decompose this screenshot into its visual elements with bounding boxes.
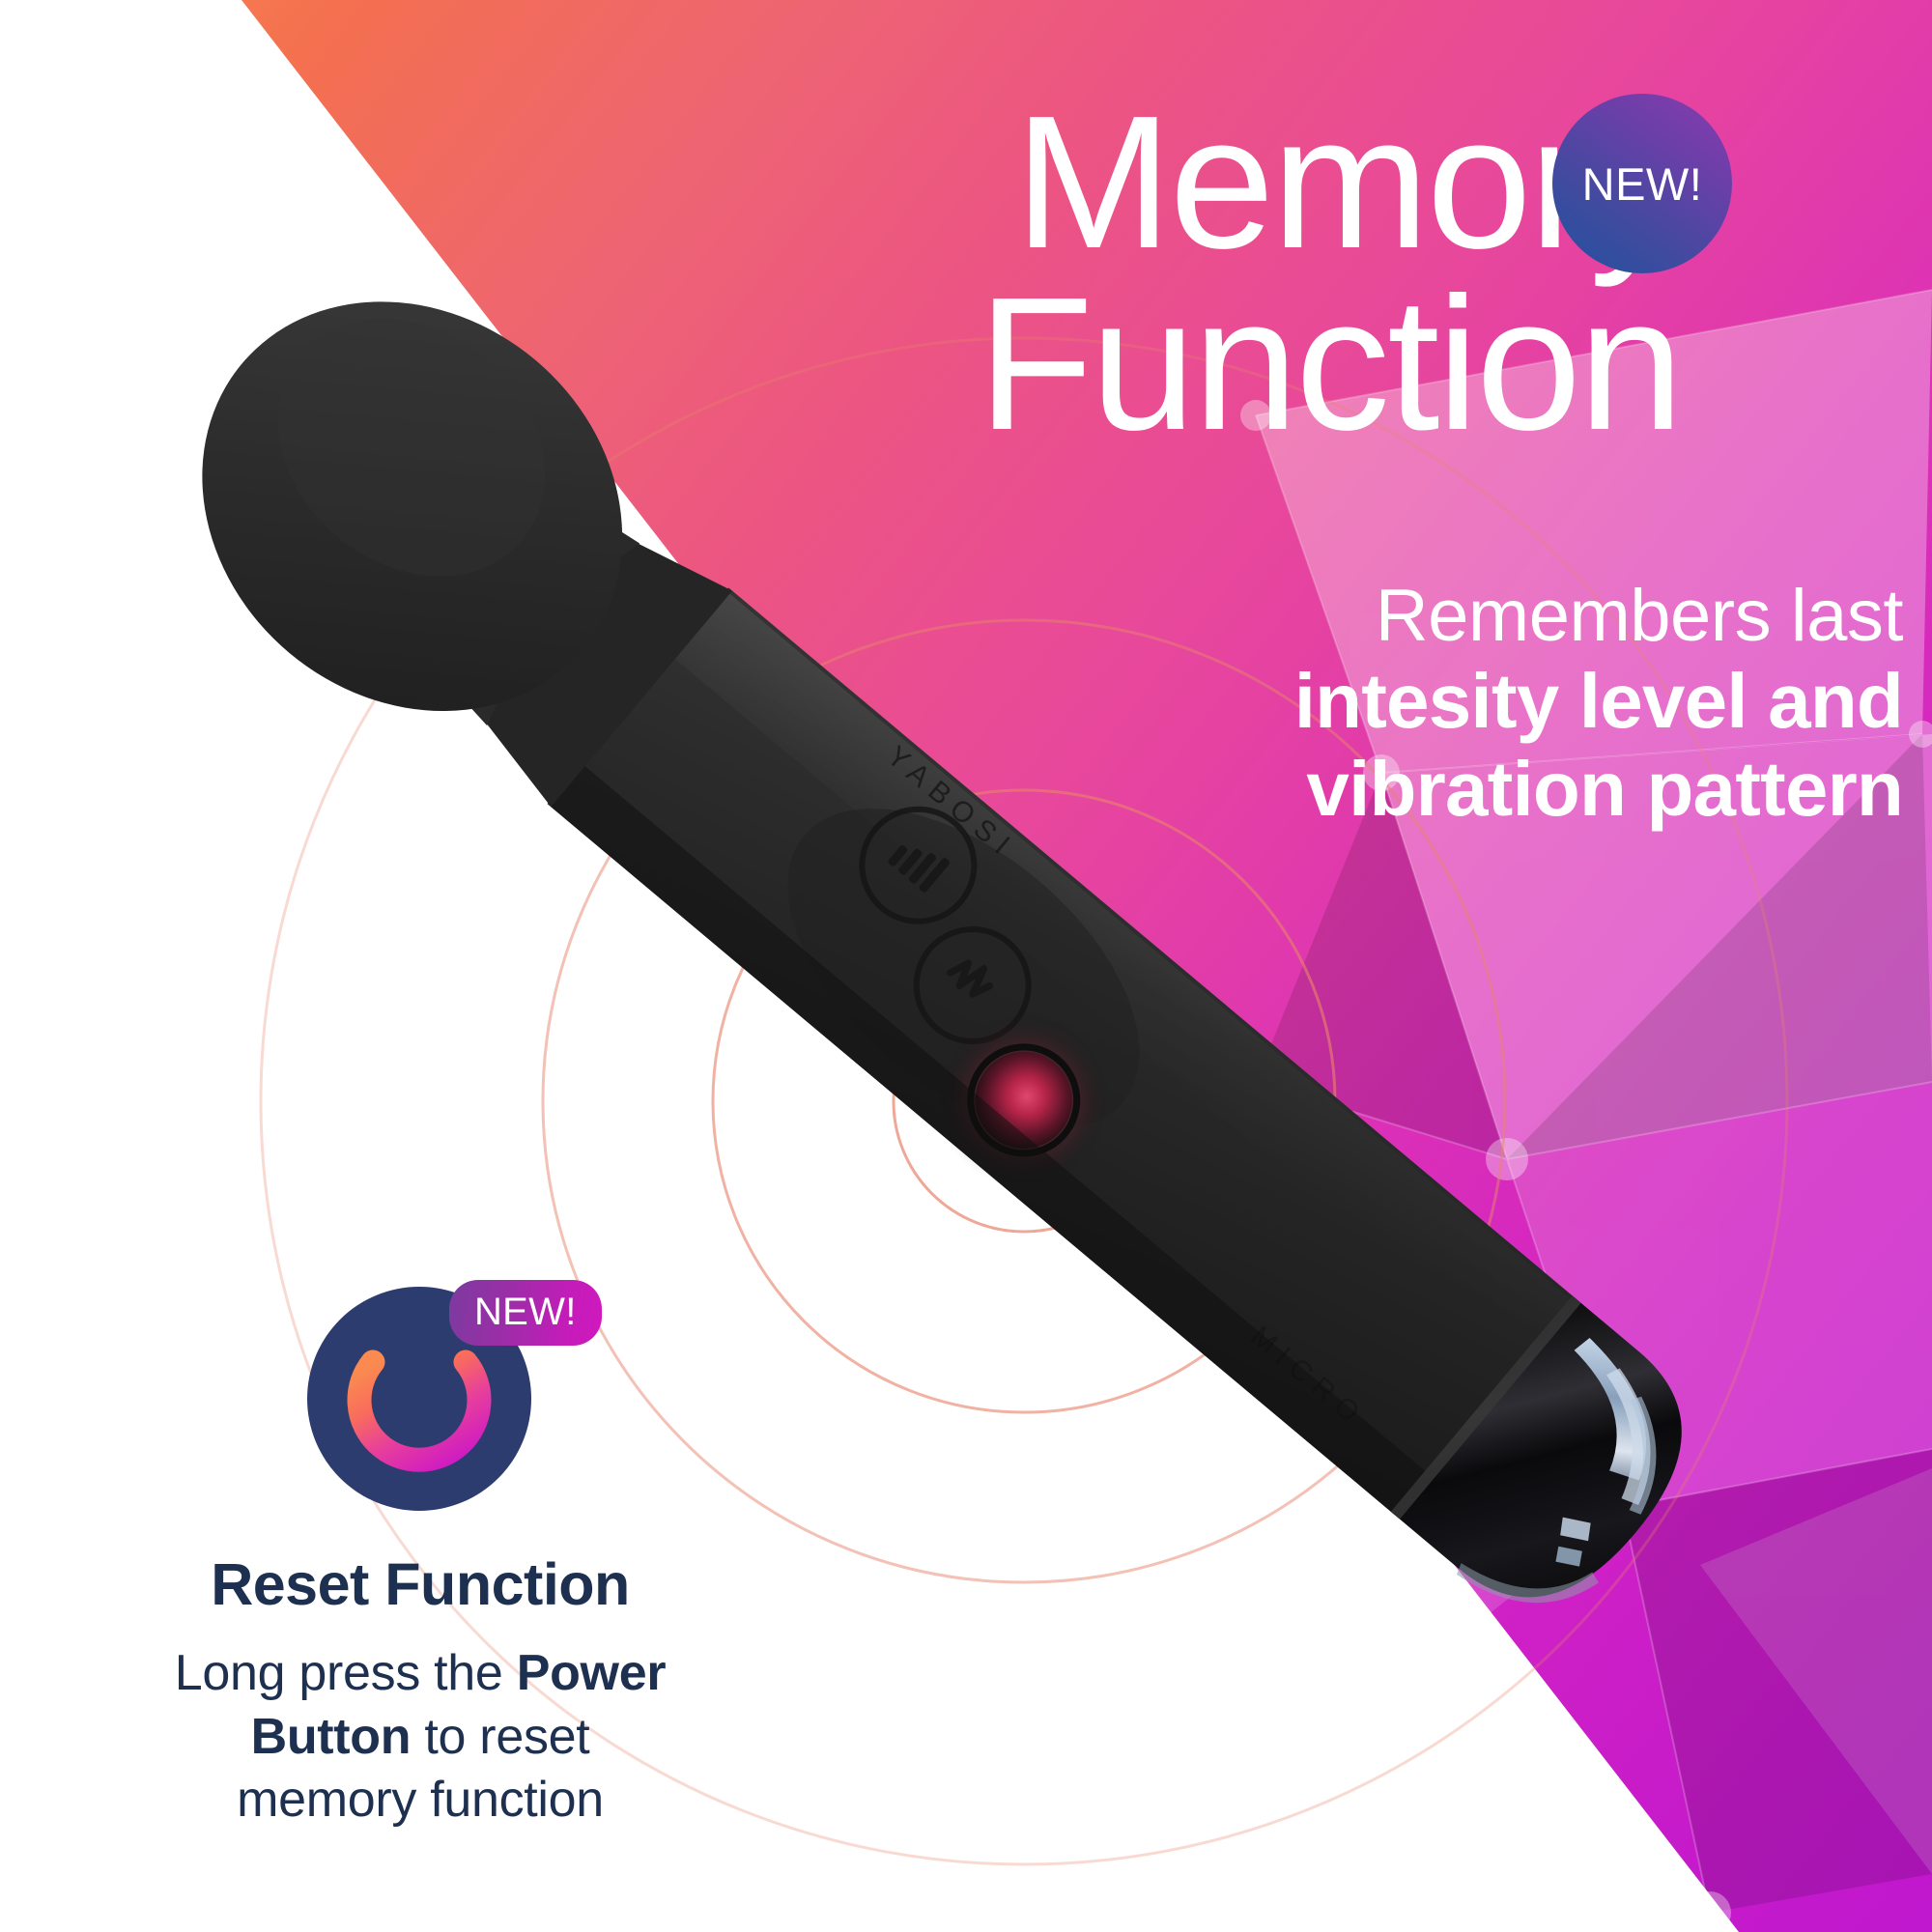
caption-body: Long press the PowerButton to resetmemor… <box>39 1642 802 1833</box>
caption-body-bold-power: Power <box>517 1645 667 1701</box>
subtitle-line-3: vibration pattern <box>734 745 1903 833</box>
caption-body-plain-3: memory function <box>237 1772 604 1828</box>
page-title: Memory Function <box>541 92 1681 455</box>
caption-title: Reset Function <box>39 1553 802 1615</box>
new-badge-circle: NEW! <box>1552 94 1732 273</box>
subtitle-line-2: intesity level and <box>734 657 1903 745</box>
subtitle-block: Remembers last intesity level and vibrat… <box>734 575 1903 833</box>
caption-body-bold-button: Button <box>251 1709 412 1765</box>
new-badge-pill: NEW! <box>449 1280 602 1346</box>
reset-function-caption: Reset Function Long press the PowerButto… <box>39 1553 802 1833</box>
caption-body-plain-1: Long press the <box>175 1645 517 1701</box>
poster-canvas: YABOSI MICRO <box>0 0 1932 1932</box>
caption-body-plain-2: to reset <box>411 1709 589 1765</box>
subtitle-line-1: Remembers last <box>734 575 1903 657</box>
new-badge-circle-label: NEW! <box>1582 157 1703 211</box>
